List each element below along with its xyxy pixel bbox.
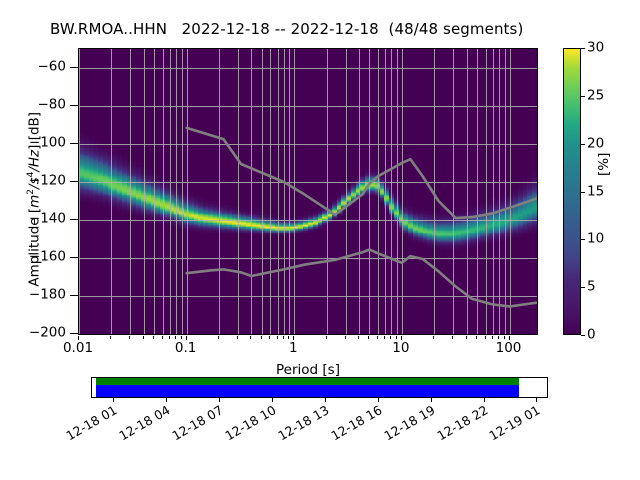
colorbar-label: [%] [596,153,612,176]
x-tick-minor [396,336,397,339]
timeline-tick-label: 12-18 22 [432,404,490,445]
x-tick-minor [368,336,369,339]
x-tick-minor [218,336,219,339]
colorbar-tick [581,335,585,336]
noise-model-nhnm [187,128,537,218]
x-tick-minor [169,336,170,339]
timeline-tick [272,398,273,402]
colorbar-tick [581,48,585,49]
x-tick-minor [269,336,270,339]
ppsd-axes[interactable] [78,48,538,335]
x-tick-label: 10 [371,342,431,356]
x-tick-minor [358,336,359,339]
coverage-timeline[interactable] [91,377,548,398]
timeline-tick-label: 12-18 19 [379,404,437,445]
timeline-tick-label: 12-18 16 [326,404,384,445]
colorbar-tick [581,239,585,240]
timeline-tick [536,398,537,402]
timeline-tick [378,398,379,402]
x-tick-minor [390,336,391,339]
colorbar-tick-label: 0 [587,328,617,342]
x-tick-minor [261,336,262,339]
colorbar-tick-label: 30 [587,41,617,55]
timeline-tick [431,398,432,402]
y-tick [70,257,78,258]
colorbar-tick-label: 10 [587,233,617,247]
x-tick-minor [110,336,111,339]
timeline-tick-label: 12-18 01 [61,404,119,445]
timeline-tick-label: 12-18 13 [273,404,331,445]
x-tick-minor [288,336,289,339]
timeline-tick [113,398,114,402]
timeline-tick [325,398,326,402]
colorbar-tick-label: 5 [587,280,617,294]
y-tick [70,219,78,220]
x-tick-minor [250,336,251,339]
x-tick-minor [466,336,467,339]
x-tick-minor [129,336,130,339]
colorbar-tick-label: 25 [587,89,617,103]
y-tick [70,181,78,182]
x-tick-minor [485,336,486,339]
x-tick-minor [345,336,346,339]
noise-model-nlnm [187,250,537,307]
x-tick-minor [377,336,378,339]
x-tick-minor [498,336,499,339]
x-tick-label: 0.1 [156,342,216,356]
colorbar-tick [581,192,585,193]
x-tick-label: 0.01 [48,342,108,356]
x-tick-minor [153,336,154,339]
noise-model-overlay [79,49,537,334]
x-tick-minor [504,336,505,339]
y-tick [70,333,78,334]
timeline-tick [166,398,167,402]
y-tick [70,105,78,106]
timeline-tick-label: 12-18 04 [114,404,172,445]
x-tick-minor [181,336,182,339]
x-tick-minor [384,336,385,339]
x-tick-minor [326,336,327,339]
x-tick-minor [277,336,278,339]
y-tick [70,295,78,296]
timeline-blue-coverage [96,385,519,397]
x-axis-label: Period [s] [178,362,438,378]
colorbar-tick [581,144,585,145]
timeline-tick-label: 12-18 07 [167,404,225,445]
page-title: BW.RMOA..HHN 2022-12-18 -- 2022-12-18 (4… [50,20,590,38]
x-tick-minor [492,336,493,339]
x-tick-minor [237,336,238,339]
x-tick-minor [175,336,176,339]
colorbar-tick [581,96,585,97]
timeline-tick-label: 12-18 10 [220,404,278,445]
y-tick [70,143,78,144]
colorbar-tick-label: 20 [587,137,617,151]
x-tick-minor [283,336,284,339]
colorbar [563,48,581,335]
x-tick-label: 100 [479,342,539,356]
timeline-tick [484,398,485,402]
x-tick-minor [433,336,434,339]
timeline-tick [219,398,220,402]
timeline-green-coverage [96,378,519,385]
ppsd-figure: BW.RMOA..HHN 2022-12-18 -- 2022-12-18 (4… [0,0,640,480]
colorbar-tick-label: 15 [587,185,617,199]
timeline-tick-label: 12-19 01 [484,404,542,445]
y-tick [70,67,78,68]
x-tick-minor [452,336,453,339]
x-tick-minor [162,336,163,339]
y-axis-label: Amplitude [m2/s4/Hz] [dB] [26,69,43,329]
x-tick-minor [143,336,144,339]
x-tick-minor [476,336,477,339]
colorbar-tick [581,287,585,288]
x-tick-label: 1 [263,342,323,356]
